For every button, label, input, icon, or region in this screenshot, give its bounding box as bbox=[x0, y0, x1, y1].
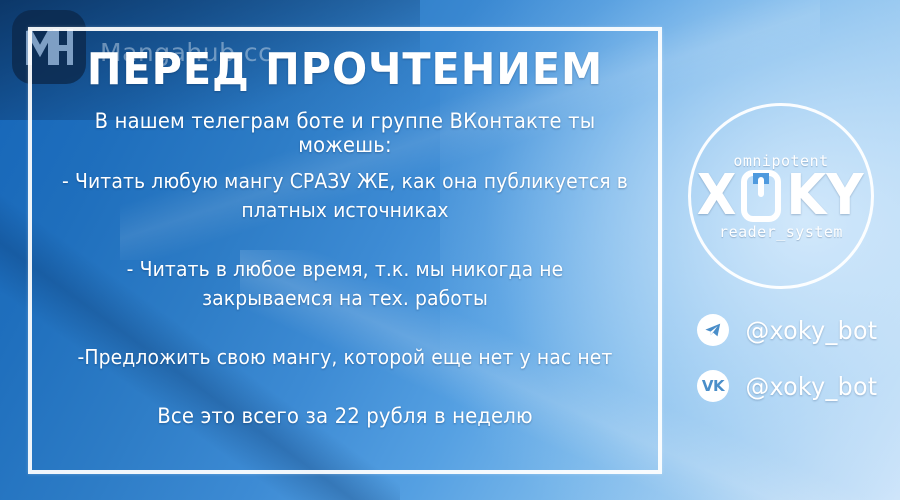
benefit-item: - Читать любую мангу СРАЗУ ЖЕ, как она п… bbox=[60, 167, 630, 225]
power-icon bbox=[741, 170, 781, 222]
benefit-item: - Читать в любое время, т.к. мы никогда … bbox=[60, 255, 630, 313]
brand-name-right: KY bbox=[786, 168, 863, 224]
vk-handle: @xoky_bot bbox=[745, 372, 877, 401]
telegram-handle: @xoky_bot bbox=[745, 316, 877, 345]
price-statement: Все это всего за 22 рубля в неделю bbox=[60, 402, 630, 431]
promo-poster: Mangahub.cc ПЕРЕД ПРОЧТЕНИЕМ В нашем тел… bbox=[0, 0, 900, 500]
brand-name: X KY bbox=[695, 168, 866, 224]
social-link-telegram[interactable]: @xoky_bot bbox=[697, 314, 881, 346]
telegram-icon bbox=[697, 314, 729, 346]
vk-icon-label: VK bbox=[702, 377, 724, 395]
page-title: ПЕРЕД ПРОЧТЕНИЕМ bbox=[47, 44, 643, 95]
brand-name-left: X bbox=[697, 168, 737, 224]
social-link-vk[interactable]: VK @xoky_bot bbox=[697, 370, 881, 402]
promo-text-panel: ПЕРЕД ПРОЧТЕНИЕМ В нашем телеграм боте и… bbox=[28, 27, 662, 474]
benefit-item: -Предложить свою мангу, которой еще нет … bbox=[60, 343, 630, 372]
vk-icon: VK bbox=[697, 370, 729, 402]
xoky-brand-logo: omnipotent X KY reader_system bbox=[688, 103, 874, 289]
panel-subtitle: В нашем телеграм боте и группе ВКонтакте… bbox=[50, 109, 640, 157]
